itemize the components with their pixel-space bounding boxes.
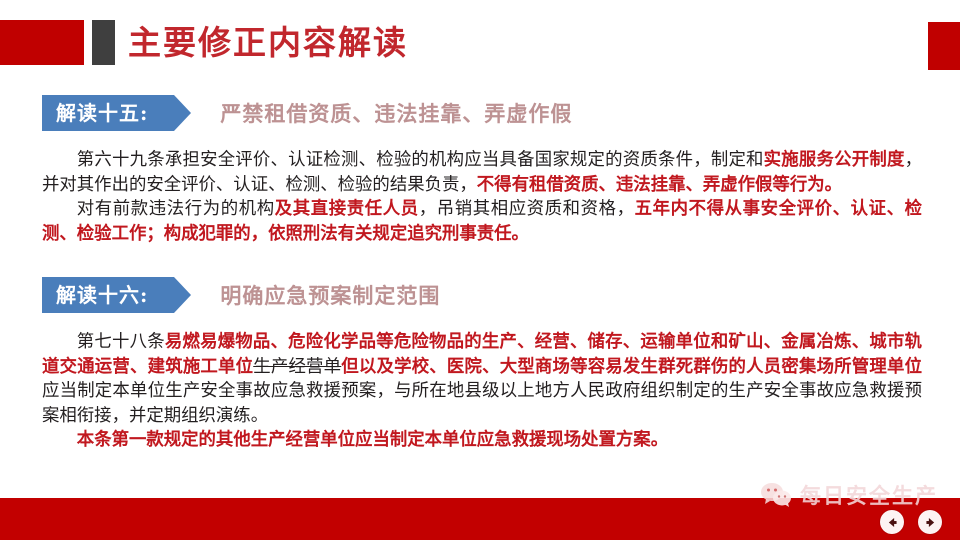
text-run: 生产经营单 — [253, 357, 341, 377]
section-subtitle-16: 明确应急预案制定范围 — [220, 280, 440, 310]
arrow-left-icon — [886, 516, 899, 529]
nav-prev-button[interactable] — [880, 510, 904, 534]
text-run: 本条第一款规定的其他生产经营单位应当制定本单位应急救援现场处置方案。 — [77, 430, 668, 450]
section-badge-16: 解读十六: — [42, 277, 174, 313]
arrow-right-icon — [924, 516, 937, 529]
section-subtitle-15: 严禁租借资质、违法挂靠、弄虚作假 — [220, 98, 572, 128]
text-run: 第七十八条 — [77, 332, 165, 352]
text-run: 但以及学校、医院、大型商场等容易发生群死群伤的人员密集场所管理单位 — [341, 357, 922, 377]
footer-bar — [0, 498, 960, 540]
slide-nav — [880, 510, 942, 534]
section-header-16: 解读十六: 明确应急预案制定范围 — [42, 277, 440, 313]
text-run: ，吊销其相应资质和资格， — [419, 199, 635, 219]
text-run: 对有前款违法行为的机构 — [77, 199, 275, 219]
header-right-red-block — [928, 22, 960, 70]
slide-canvas: 主要修正内容解读 解读十五: 严禁租借资质、违法挂靠、弄虚作假 第六十九条承担安… — [0, 0, 960, 540]
paragraph: 第六十九条承担安全评价、认证检测、检验的机构应当具备国家规定的资质条件，制定和实… — [42, 148, 922, 197]
text-run: 不得有租借资质、违法挂靠、弄虚作假等行为。 — [477, 175, 842, 195]
text-run: 第六十九条承担安全评价、认证检测、检验的机构应当具备国家规定的资质条件，制定和 — [77, 150, 764, 170]
section-header-15: 解读十五: 严禁租借资质、违法挂靠、弄虚作假 — [42, 95, 572, 131]
text-run: 及其直接责任人员 — [275, 199, 419, 219]
text-run: 实施服务公开制度 — [764, 150, 905, 170]
nav-next-button[interactable] — [918, 510, 942, 534]
section-body-15: 第六十九条承担安全评价、认证检测、检验的机构应当具备国家规定的资质条件，制定和实… — [42, 148, 922, 246]
page-title: 主要修正内容解读 — [128, 20, 408, 65]
section-badge-15: 解读十五: — [42, 95, 174, 131]
header-red-block — [0, 20, 84, 65]
header-gray-block — [92, 20, 115, 65]
paragraph: 对有前款违法行为的机构及其直接责任人员，吊销其相应资质和资格，五年内不得从事安全… — [42, 197, 922, 246]
section-body-16: 第七十八条易燃易爆物品、危险化学品等危险物品的生产、经营、储存、运输单位和矿山、… — [42, 330, 922, 453]
text-run: 应当制定本单位生产安全事故应急救援预案，与所在地县级以上地方人民政府组织制定的生… — [42, 381, 922, 426]
paragraph: 本条第一款规定的其他生产经营单位应当制定本单位应急救援现场处置方案。 — [42, 428, 922, 453]
paragraph: 第七十八条易燃易爆物品、危险化学品等危险物品的生产、经营、储存、运输单位和矿山、… — [42, 330, 922, 428]
